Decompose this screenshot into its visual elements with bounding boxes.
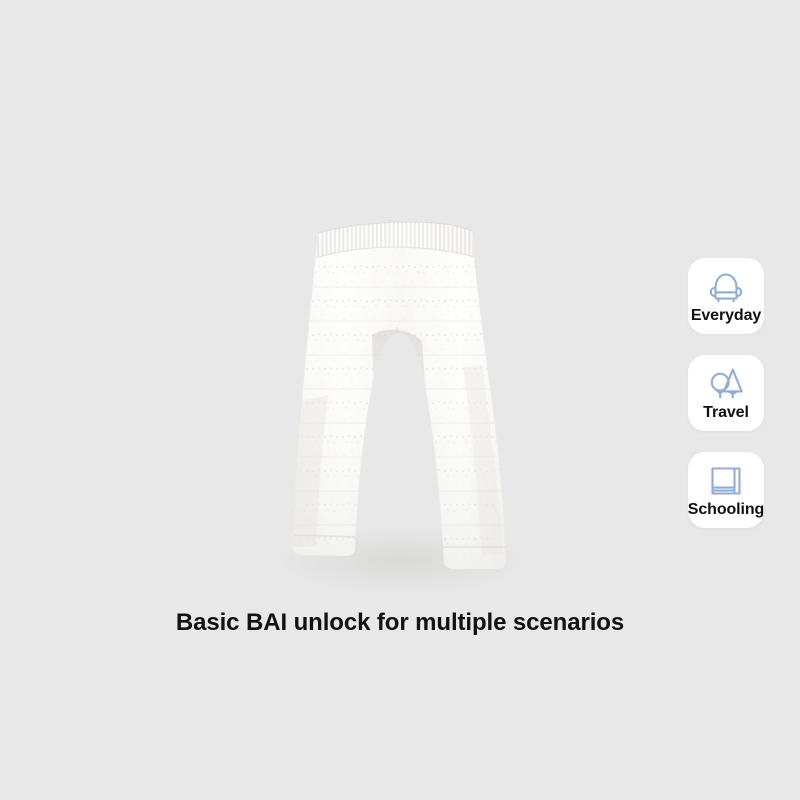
scenario-card-travel[interactable]: Travel	[688, 355, 764, 431]
scenario-label-schooling: Schooling	[688, 500, 764, 520]
scenario-label-travel: Travel	[703, 403, 749, 423]
armchair-icon	[702, 264, 750, 310]
product-image-stage	[250, 195, 550, 595]
book-icon	[702, 458, 750, 504]
scenario-card-schooling[interactable]: Schooling	[688, 452, 764, 528]
page-caption: Basic BAI unlock for multiple scenarios	[0, 608, 800, 638]
baby-knit-pants-image	[250, 195, 550, 595]
scenario-label-everyday: Everyday	[691, 306, 761, 326]
product-feature-canvas: Everyday Travel	[0, 0, 800, 800]
scenario-card-list: Everyday Travel	[688, 258, 764, 528]
trees-icon	[702, 361, 750, 407]
scenario-card-everyday[interactable]: Everyday	[688, 258, 764, 334]
